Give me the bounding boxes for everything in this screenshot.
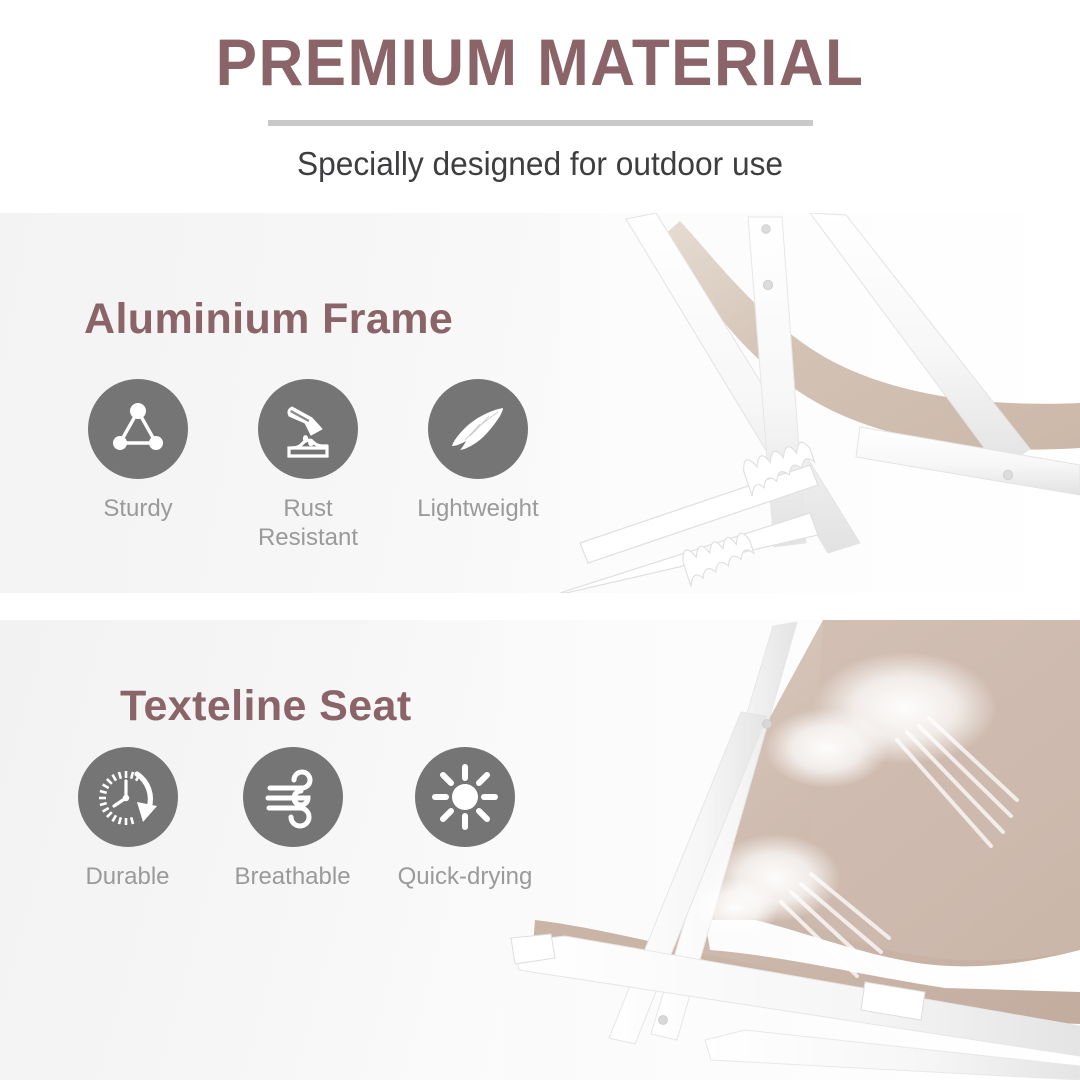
feature-label: Lightweight bbox=[417, 494, 538, 523]
feature-label: Breathable bbox=[234, 862, 350, 891]
header: PREMIUM MATERIAL Specially designed for … bbox=[0, 0, 1080, 213]
feature-breathable: Breathable bbox=[210, 747, 375, 891]
feature-list-texteline-seat: Durable Breathable bbox=[45, 747, 555, 891]
triangle-nodes-icon bbox=[88, 379, 188, 479]
feature-label: Durable bbox=[85, 862, 169, 891]
panel-heading-aluminium-frame: Aluminium Frame bbox=[84, 295, 453, 344]
feature-list-aluminium-frame: Sturdy Rust Resistant bbox=[48, 379, 568, 553]
clock-arrow-icon bbox=[78, 747, 178, 847]
feature-quick-drying: Quick-drying bbox=[375, 747, 555, 891]
feature-label: Sturdy bbox=[103, 494, 172, 523]
page-title: PREMIUM MATERIAL bbox=[32, 24, 1047, 100]
sun-icon bbox=[415, 747, 515, 847]
feather-icon bbox=[428, 379, 528, 479]
deck-chair-texteline-seat-photo bbox=[505, 620, 1080, 1080]
feature-rust-resistant: Rust Resistant bbox=[228, 379, 388, 553]
feature-lightweight: Lightweight bbox=[388, 379, 568, 553]
deck-chair-aluminium-frame-photo bbox=[560, 213, 1080, 593]
title-divider bbox=[268, 120, 813, 126]
liquid-drop-surface-icon bbox=[258, 379, 358, 479]
feature-label: Quick-drying bbox=[398, 862, 533, 891]
panel-heading-texteline-seat: Texteline Seat bbox=[120, 682, 412, 731]
panel-aluminium-frame: Aluminium Frame Sturdy bbox=[0, 213, 1080, 593]
wind-icon bbox=[243, 747, 343, 847]
feature-label: Rust Resistant bbox=[258, 494, 358, 553]
page-subtitle: Specially designed for outdoor use bbox=[22, 145, 1059, 183]
panel-texteline-seat: Texteline Seat bbox=[0, 620, 1080, 1080]
feature-sturdy: Sturdy bbox=[48, 379, 228, 553]
feature-durable: Durable bbox=[45, 747, 210, 891]
